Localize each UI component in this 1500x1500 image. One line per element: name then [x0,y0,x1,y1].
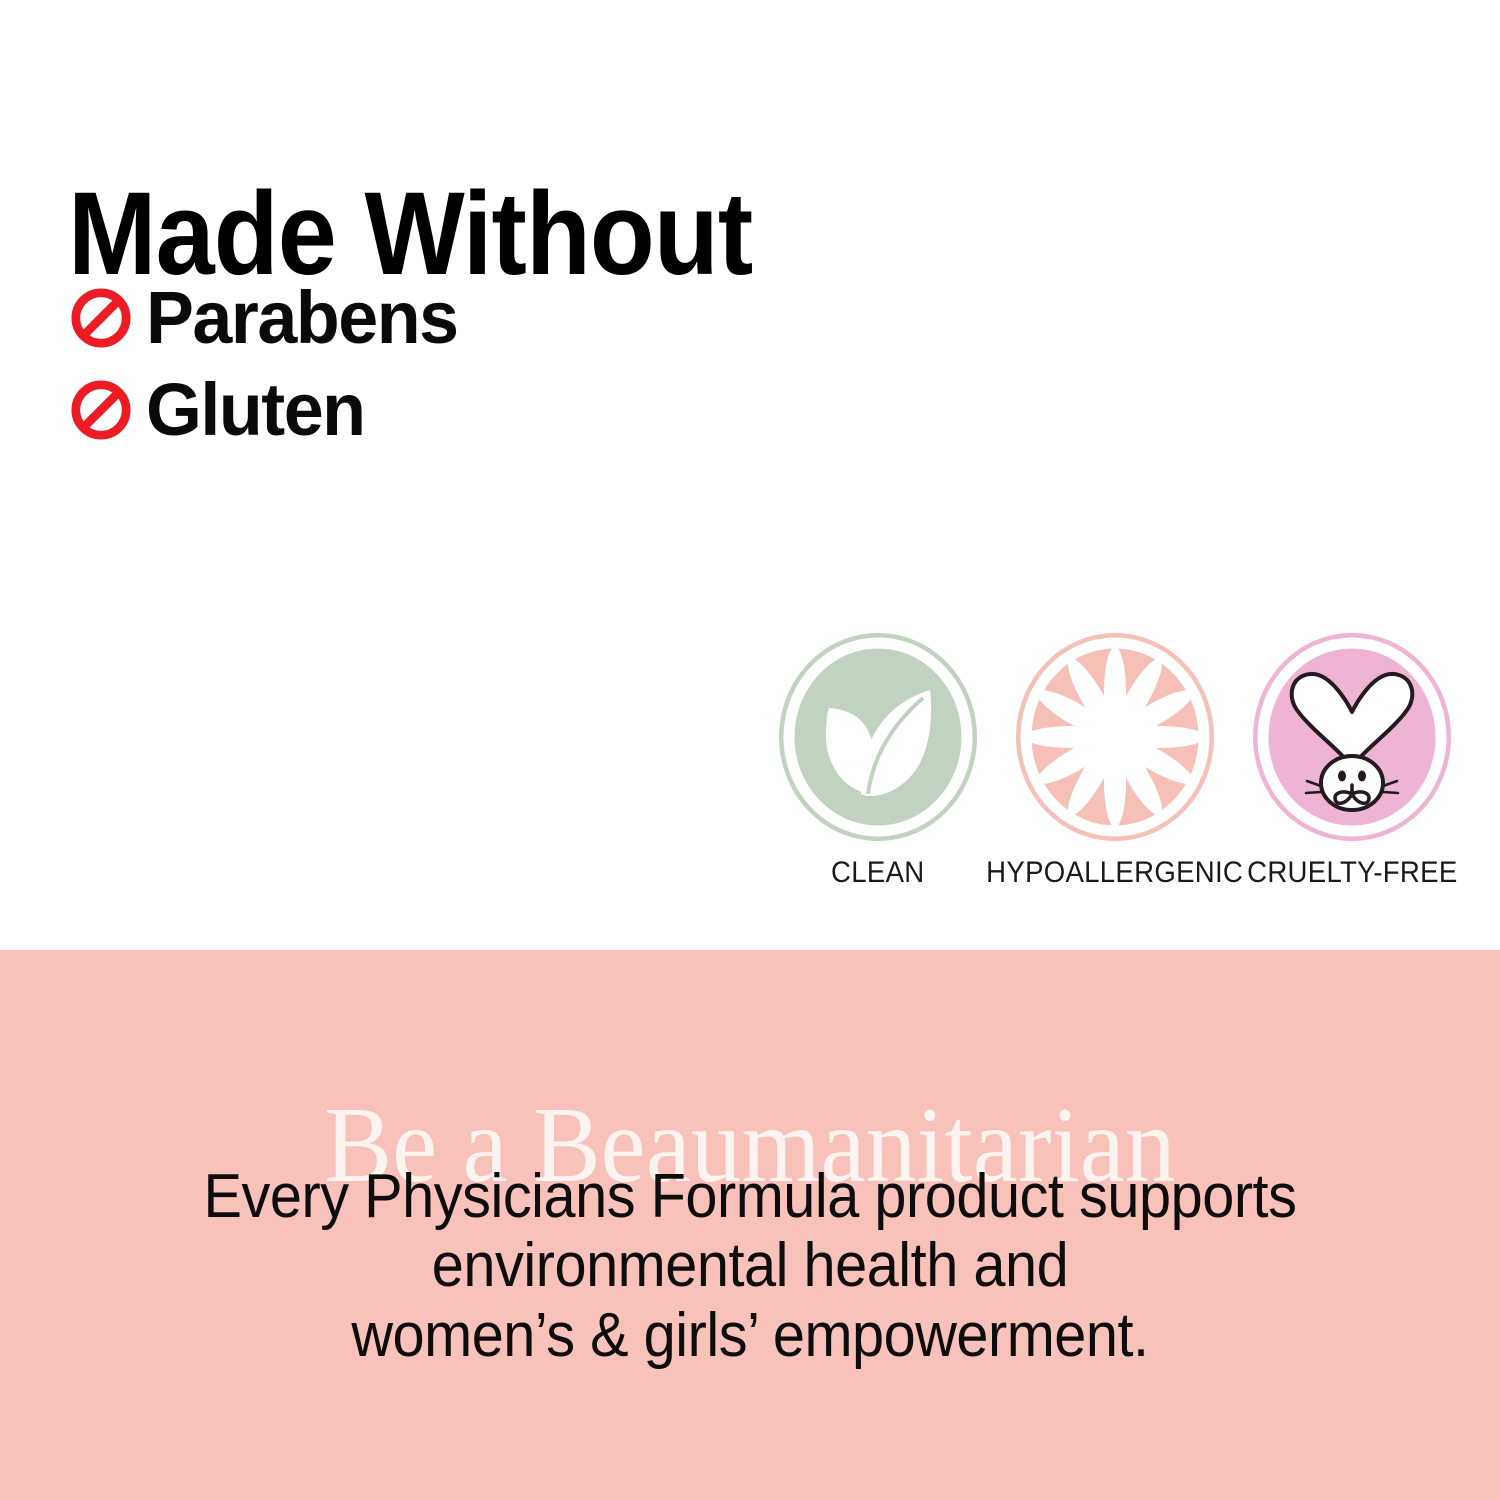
badge-label-clean: CLEAN [831,858,924,888]
body-line: women’s & girls’ empowerment. [53,1301,1448,1370]
certification-badge-row: CLEAN [770,628,1460,888]
bunny-heart-ears-icon [1247,628,1457,846]
made-without-list: Parabens Gluten [70,272,467,456]
body-line: Every Physicians Formula product support… [53,1162,1448,1231]
badge-cruelty-free: CRUELTY-FREE [1244,628,1460,888]
badge-label-hypoallergenic: HYPOALLERGENIC [987,858,1244,888]
list-item: Parabens [70,272,467,364]
flower-icon [1010,628,1220,846]
product-claims-panel: Made Without Parabens G [0,0,1500,1500]
leaves-icon [773,628,983,846]
badge-hypoallergenic: HYPOALLERGENIC [1007,628,1223,888]
prohibition-icon [70,379,132,441]
beaumanitarian-body: Every Physicians Formula product support… [53,1162,1448,1370]
badge-label-cruelty-free: CRUELTY-FREE [1247,858,1457,888]
list-item: Gluten [70,364,467,456]
prohibition-icon [70,287,132,349]
made-without-section: Made Without Parabens G [0,0,1500,950]
badge-clean: CLEAN [770,628,986,888]
body-line: environmental health and [53,1231,1448,1300]
beaumanitarian-section: Be a Beaumanitarian Every Physicians For… [0,950,1500,1500]
list-item-label: Gluten [146,373,365,447]
list-item-label: Parabens [146,281,458,355]
